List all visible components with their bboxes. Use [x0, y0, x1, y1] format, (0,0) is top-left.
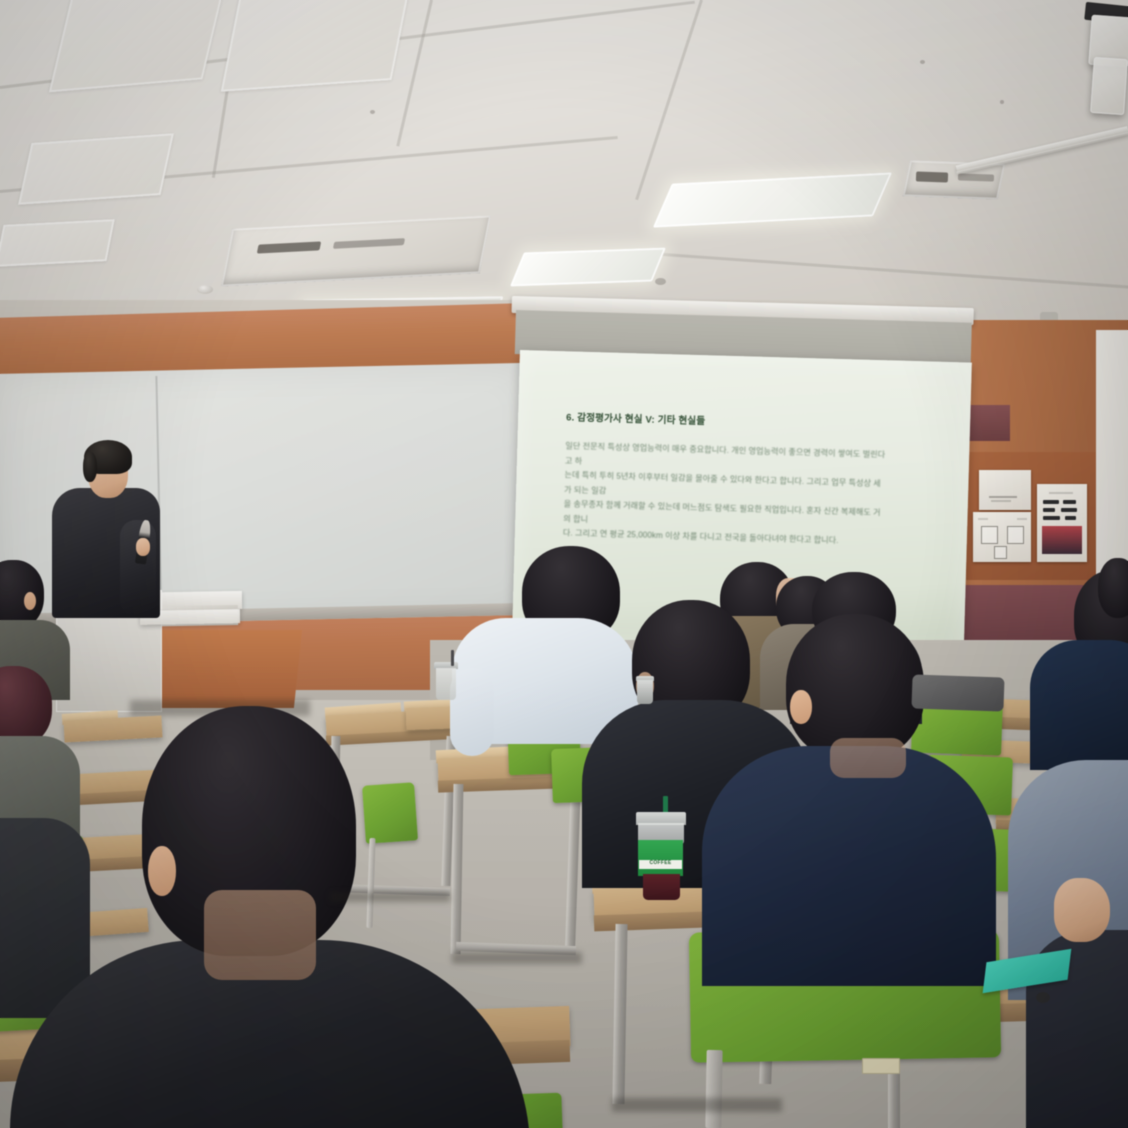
audience-ear	[24, 592, 36, 610]
poster-text-line	[978, 518, 988, 520]
cup-body	[436, 668, 456, 700]
desk-shadow	[330, 892, 450, 902]
presenter-hand	[136, 538, 150, 556]
chair-frame	[705, 1050, 722, 1128]
poster-field	[981, 526, 998, 544]
projector-lens-body	[1090, 57, 1128, 115]
poster-text-line	[989, 496, 1017, 498]
cup-straw	[451, 650, 454, 666]
audience-torso-hoodie	[702, 746, 996, 986]
poster-bar	[1043, 508, 1055, 512]
vent-slot	[958, 173, 994, 181]
smoke-detector	[197, 285, 213, 294]
bag	[911, 674, 1004, 711]
poster-notice	[979, 470, 1031, 510]
ceiling-mark	[1000, 100, 1004, 104]
chair-backrest[interactable]	[362, 782, 418, 843]
audience-torso	[1030, 640, 1128, 770]
foreground-person-neck	[204, 890, 316, 980]
cup-sleeve	[638, 840, 683, 876]
ceiling-panel	[221, 0, 411, 92]
poster-text-line	[1049, 492, 1073, 494]
audience-hand	[1054, 878, 1110, 942]
poster-bar	[1061, 508, 1077, 512]
notebook-clip	[1036, 992, 1050, 1003]
poster-bar	[1043, 500, 1059, 504]
poster-infographic	[1037, 484, 1087, 562]
slide-body: 일단 전문직 특성상 영업능력이 매우 중요합니다. 개인 영업능력이 좋으면 …	[563, 439, 886, 549]
poster-text-line	[1017, 518, 1027, 520]
desk-shadow	[612, 1098, 782, 1112]
chair-asset-label	[862, 1058, 900, 1074]
audience-arm-shirt	[450, 668, 494, 756]
poster-form	[973, 512, 1031, 562]
ceiling-panel	[18, 133, 174, 205]
vent-slot	[916, 171, 948, 182]
cup-body	[637, 680, 653, 704]
audience-ear	[790, 690, 812, 724]
ceiling-mark	[370, 110, 375, 114]
poster-bar	[1043, 516, 1060, 520]
poster-field	[1007, 526, 1024, 544]
audience-head	[1098, 558, 1128, 618]
cup-contents	[643, 874, 680, 900]
poster-bar	[1063, 500, 1076, 504]
foreground-person-ear	[148, 846, 176, 896]
ceiling-panel	[0, 219, 115, 267]
cup-brand-label: COFFEE	[639, 860, 682, 869]
lecture-hall-photo: 6. 감정평가사 현실 V: 기타 현실들 일단 전문직 특성상 영업능력이 매…	[0, 0, 1128, 1128]
audience-neck	[830, 738, 906, 778]
presenter-hair-side	[83, 452, 97, 482]
ceiling-light	[510, 248, 666, 287]
ceiling-mark	[920, 60, 925, 64]
slide-title: 6. 감정평가사 현실 V: 기타 현실들	[566, 409, 706, 427]
poster-bar	[1065, 516, 1076, 520]
poster-text-line	[991, 500, 1011, 502]
poster-image	[1042, 526, 1082, 554]
ceiling-panel	[49, 0, 225, 92]
poster-field	[994, 546, 1007, 559]
desk-shadow	[452, 952, 582, 964]
desk-surface	[87, 908, 149, 936]
ceiling-mark	[655, 278, 666, 285]
